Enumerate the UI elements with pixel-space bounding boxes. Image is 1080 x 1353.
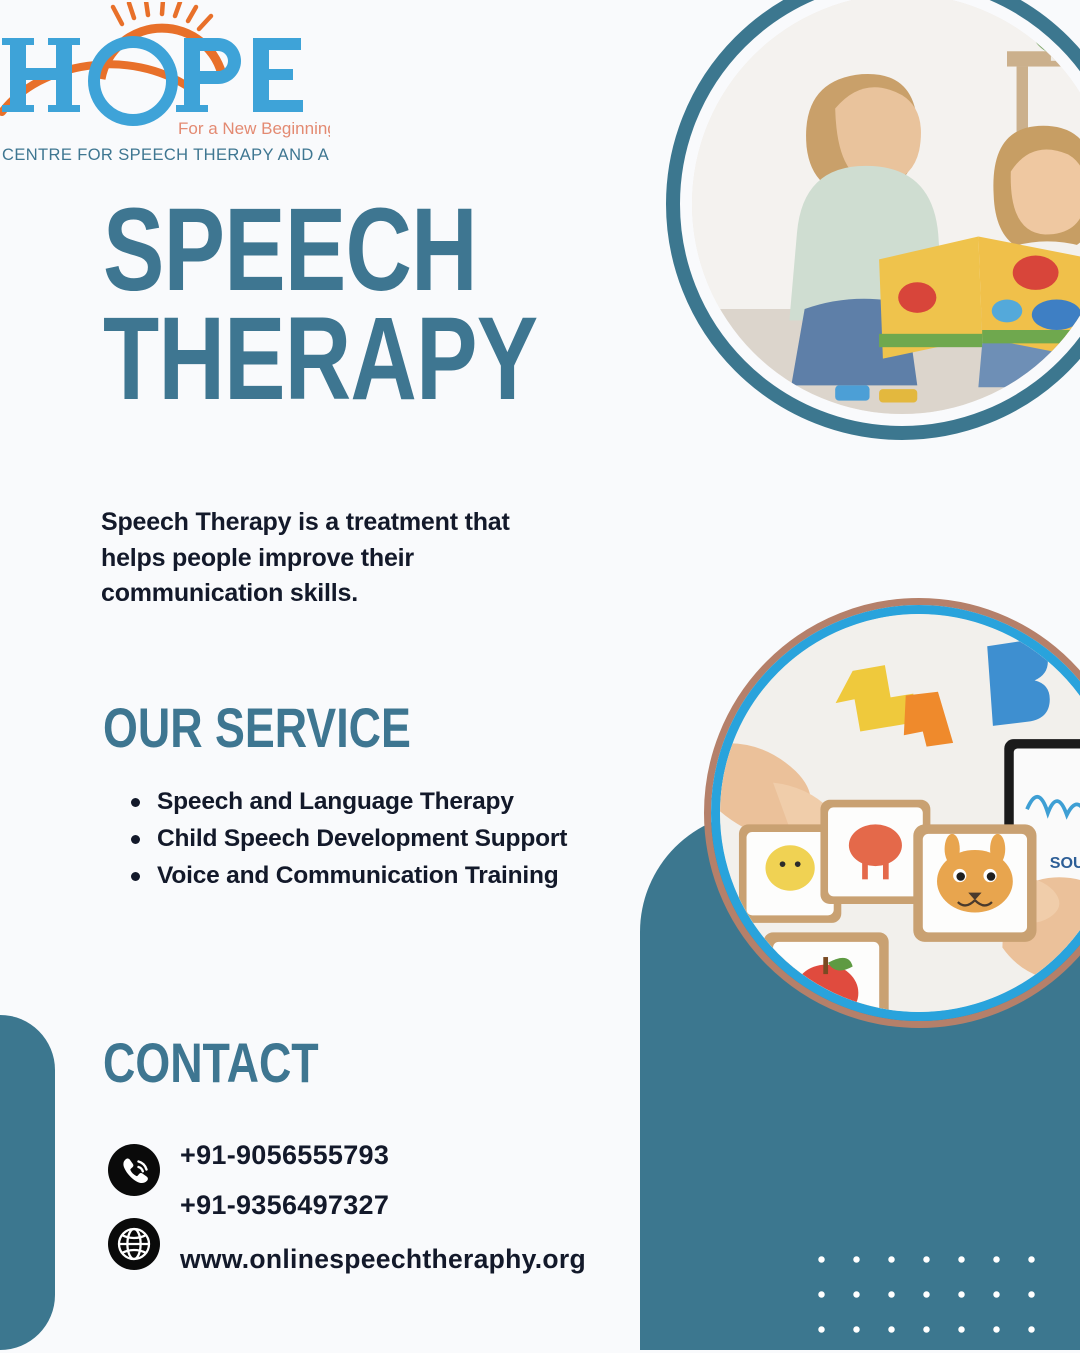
page-title: SPEECH THERAPY — [103, 196, 470, 413]
dot-grid-pattern — [800, 1238, 1050, 1353]
hope-wordmark — [2, 38, 303, 120]
logo-tagline: For a New Beginning — [178, 119, 330, 138]
website-url[interactable]: www.onlinespeechtheraphy.org — [180, 1244, 586, 1275]
list-item: Voice and Communication Training — [120, 859, 640, 893]
phone-number-primary[interactable]: +91-9056555793 — [180, 1140, 389, 1171]
our-service-heading: OUR SERVICE — [103, 700, 411, 756]
title-line-2: THERAPY — [103, 305, 470, 414]
hope-logo: For a New Beginning CENTRE FOR SPEECH TH… — [0, 2, 330, 167]
bottom-left-teal-panel — [0, 1015, 55, 1350]
phone-number-secondary[interactable]: +91-9356497327 — [180, 1190, 389, 1221]
phone-icon — [108, 1144, 160, 1196]
list-item: Child Speech Development Support — [120, 822, 640, 856]
svg-text:SOUN: SOUN — [1050, 854, 1080, 872]
title-line-1: SPEECH — [103, 196, 470, 305]
intro-description: Speech Therapy is a treatment that helps… — [101, 505, 531, 612]
contact-heading: CONTACT — [103, 1035, 319, 1091]
list-item: Speech and Language Therapy — [120, 785, 640, 819]
service-list: Speech and Language Therapy Child Speech… — [120, 785, 640, 896]
flashcards-photo: SOUN — [720, 614, 1080, 1012]
logo-subtitle: CENTRE FOR SPEECH THERAPY AND AUTISM — [2, 146, 330, 164]
therapy-session-photo-frame — [666, 0, 1080, 440]
mother-child-reading-photo — [692, 0, 1080, 414]
photo-inner-ring: SOUN — [711, 605, 1080, 1021]
globe-icon — [108, 1218, 160, 1270]
